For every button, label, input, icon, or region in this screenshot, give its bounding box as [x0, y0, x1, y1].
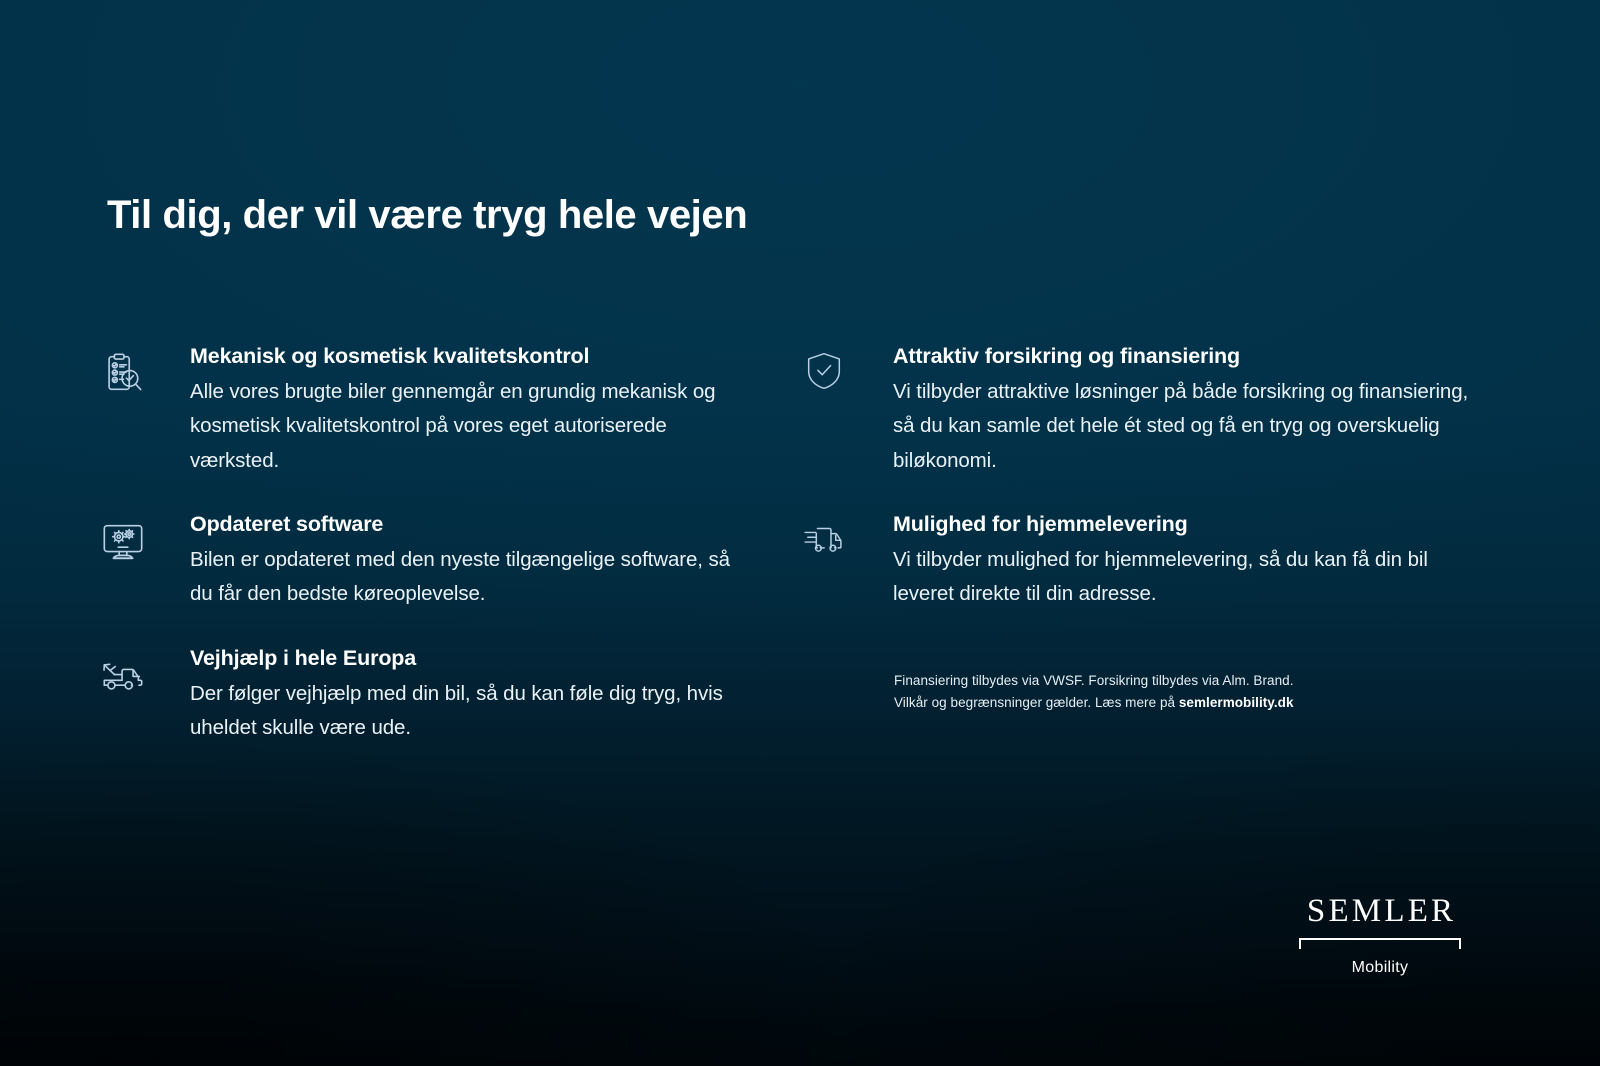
promo-poster: Til dig, der vil være tryg hele vejen — [0, 0, 1600, 1066]
logo-divider-bar — [1299, 938, 1461, 940]
page-title: Til dig, der vil være tryg hele vejen — [107, 192, 747, 239]
shield-check-icon — [803, 344, 893, 392]
feature-title: Vejhjælp i hele Europa — [190, 646, 740, 672]
monitor-gears-icon — [100, 512, 190, 564]
feature-title: Attraktiv forsikring og finansiering — [893, 344, 1483, 370]
logo-divider-tick-left — [1299, 938, 1301, 949]
clipboard-check-magnifier-icon — [100, 344, 190, 396]
feature-column-right: Attraktiv forsikring og finansiering Vi … — [803, 344, 1483, 612]
tow-truck-icon — [100, 646, 190, 698]
disclaimer-line-2-text: Vilkår og begrænsninger gælder. Læs mere… — [894, 695, 1179, 710]
feature-title: Opdateret software — [190, 512, 740, 538]
delivery-truck-icon — [803, 512, 893, 560]
feature-item-home-delivery: Mulighed for hjemmelevering Vi tilbyder … — [803, 512, 1483, 612]
feature-item-insurance-financing: Attraktiv forsikring og finansiering Vi … — [803, 344, 1483, 478]
feature-title: Mekanisk og kosmetisk kvalitetskontrol — [190, 344, 740, 370]
logo-subtitle: Mobility — [1299, 960, 1461, 976]
feature-title: Mulighed for hjemmelevering — [893, 512, 1483, 538]
feature-description: Der følger vejhjælp med din bil, så du k… — [190, 677, 740, 746]
semlermobility-link[interactable]: semlermobility.dk — [1179, 695, 1294, 710]
logo-wordmark: SEMLER — [1299, 895, 1461, 928]
disclaimer-line-1: Finansiering tilbydes via VWSF. Forsikri… — [894, 673, 1294, 688]
feature-description: Vi tilbyder mulighed for hjemmelevering,… — [893, 543, 1483, 612]
logo-divider-tick-right — [1459, 938, 1461, 949]
semler-mobility-logo: SEMLER Mobility — [1299, 895, 1461, 976]
feature-description: Vi tilbyder attraktive løsninger på både… — [893, 375, 1483, 478]
logo-divider — [1299, 938, 1461, 950]
feature-item-quality-control: Mekanisk og kosmetisk kvalitetskontrol A… — [100, 344, 740, 478]
feature-description: Alle vores brugte biler gennemgår en gru… — [190, 375, 740, 478]
legal-disclaimer: Finansiering tilbydes via VWSF. Forsikri… — [894, 670, 1454, 714]
feature-description: Bilen er opdateret med den nyeste tilgæn… — [190, 543, 740, 612]
feature-column-left: Mekanisk og kosmetisk kvalitetskontrol A… — [100, 344, 740, 745]
feature-item-roadside-assistance: Vejhjælp i hele Europa Der følger vejhjæ… — [100, 646, 740, 746]
feature-item-software: Opdateret software Bilen er opdateret me… — [100, 512, 740, 612]
